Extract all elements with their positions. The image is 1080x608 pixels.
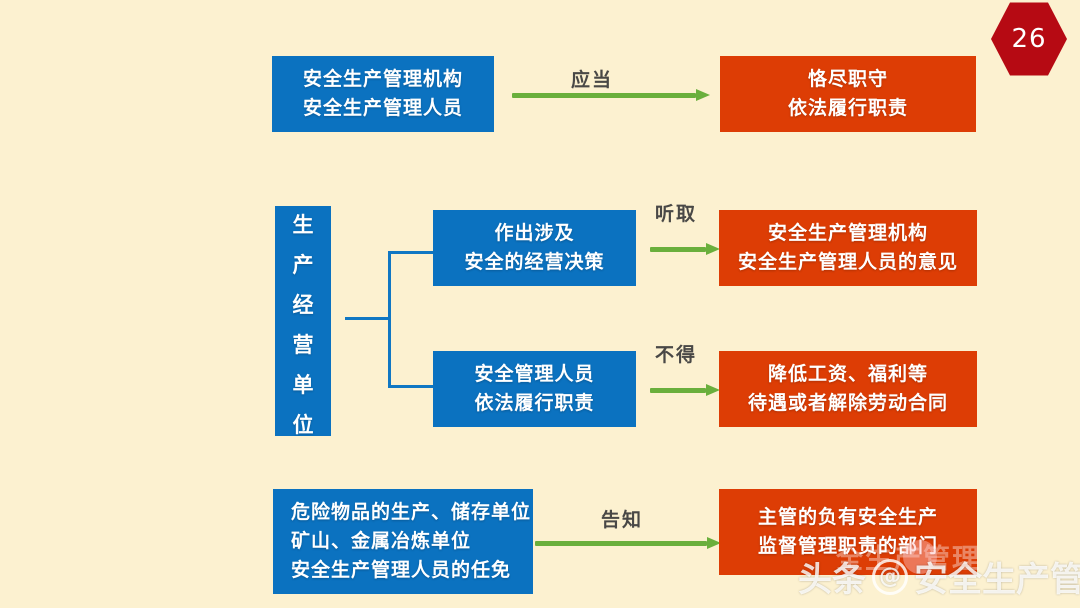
row1-source-line-1: 安全生产管理机构 — [303, 65, 463, 94]
row3-source-box: 危险物品的生产、储存单位 矿山、金属冶炼单位 安全生产管理人员的任免 — [273, 489, 533, 594]
row2-branch-2-target-line-2: 待遇或者解除劳动合同 — [748, 389, 948, 418]
row2-branch-1-target-box: 安全生产管理机构 安全生产管理人员的意见 — [719, 210, 977, 286]
row2-branch-1-target-line-2: 安全生产管理人员的意见 — [738, 248, 958, 277]
connector-branch-bottom — [388, 385, 436, 388]
row3-source-line-2: 矿山、金属冶炼单位 — [291, 527, 471, 556]
vertical-char-6: 位 — [293, 415, 314, 436]
page-number-badge: 26 — [991, 1, 1067, 77]
row2-branch-2-green-arrow-icon — [650, 384, 720, 396]
vertical-char-2: 产 — [293, 255, 314, 276]
row2-vertical-label-box: 生 产 经 营 单 位 — [275, 206, 331, 436]
page-number-label: 26 — [1011, 24, 1046, 54]
row2-branch-2-source-line-1: 安全管理人员 — [474, 360, 594, 389]
row1-source-line-2: 安全生产管理人员 — [303, 94, 463, 123]
connector-stub — [345, 317, 391, 320]
row2-branch-2-target-box: 降低工资、福利等 待遇或者解除劳动合同 — [719, 351, 977, 427]
row2-branch-2-target-line-1: 降低工资、福利等 — [768, 360, 928, 389]
row3-green-arrow-icon — [535, 537, 721, 549]
row1-source-box: 安全生产管理机构 安全生产管理人员 — [272, 56, 494, 132]
vertical-char-5: 单 — [293, 375, 314, 396]
connector-spine — [388, 251, 391, 388]
row3-target-line-2: 监督管理职责的部门 — [758, 532, 938, 561]
row1-target-line-1: 恪尽职守 — [808, 65, 888, 94]
vertical-char-1: 生 — [293, 215, 314, 236]
row2-branch-2-source-line-2: 依法履行职责 — [474, 389, 594, 418]
connector-branch-top — [388, 251, 436, 254]
row1-target-line-2: 依法履行职责 — [788, 94, 908, 123]
row2-branch-1-source-line-2: 安全的经营决策 — [464, 248, 604, 277]
row3-target-line-1: 主管的负有安全生产 — [758, 503, 938, 532]
row3-source-line-3: 安全生产管理人员的任免 — [291, 556, 511, 585]
row3-source-line-1: 危险物品的生产、储存单位 — [291, 498, 531, 527]
row1-green-arrow-icon — [512, 89, 710, 101]
row1-target-box: 恪尽职守 依法履行职责 — [720, 56, 976, 132]
slide-canvas: 26 安全生产管理机构 安全生产管理人员 应当 恪尽职守 依法履行职责 生 产 … — [0, 0, 1080, 608]
row2-branch-1-source-box: 作出涉及 安全的经营决策 — [433, 210, 636, 286]
row2-branch-1-source-line-1: 作出涉及 — [494, 219, 574, 248]
row3-target-box: 主管的负有安全生产 监督管理职责的部门 — [719, 489, 977, 575]
row2-branch-2-source-box: 安全管理人员 依法履行职责 — [433, 351, 636, 427]
vertical-char-4: 营 — [293, 335, 314, 356]
row1-arrow-caption: 应当 — [571, 65, 613, 92]
row2-branch-1-target-line-1: 安全生产管理机构 — [768, 219, 928, 248]
row2-branch-2-arrow-caption: 不得 — [655, 340, 697, 367]
row3-arrow-caption: 告知 — [601, 505, 643, 532]
vertical-char-3: 经 — [293, 295, 314, 316]
row2-branch-1-arrow-caption: 听取 — [655, 199, 697, 226]
row2-branch-1-green-arrow-icon — [650, 243, 720, 255]
